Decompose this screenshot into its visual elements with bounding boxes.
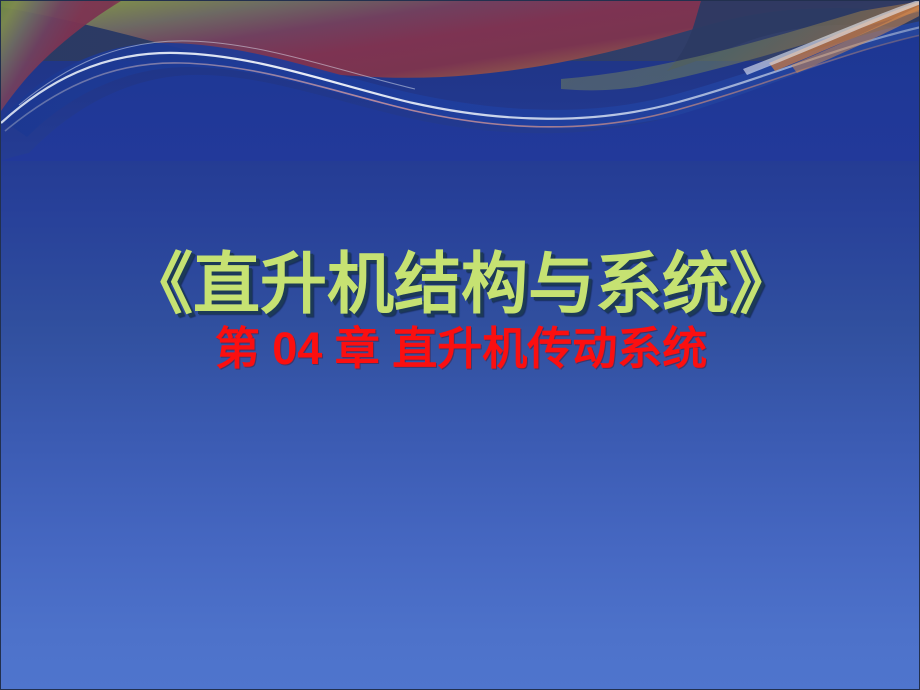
wave-backplate (1, 1, 920, 61)
wave-white-streak-right (743, 1, 920, 75)
wave-maroon-olive-sweep (1, 1, 920, 78)
wave-highlight-line-1 (1, 27, 920, 123)
wave-main-body (1, 35, 920, 161)
presentation-slide: 《直升机结构与系统》 第 04 章 直升机传动系统 (0, 0, 920, 690)
wave-navy-lobe (667, 1, 920, 71)
wave-olive-streak (561, 1, 920, 90)
wave-orange-streak-1 (769, 1, 920, 71)
wave-orange-streak-2 (791, 5, 920, 73)
wave-blue-ribbon (1, 21, 920, 137)
page-subtitle: 第 04 章 直升机传动系统 (1, 326, 920, 371)
wave-highlight-line-2 (5, 35, 920, 131)
wave-highlight-line-3 (19, 41, 415, 105)
page-title: 《直升机结构与系统》 (1, 251, 920, 318)
title-block: 《直升机结构与系统》 第 04 章 直升机传动系统 (1, 251, 920, 371)
wave-left-gradient-wedge (1, 1, 121, 111)
decorative-wave-banner (1, 1, 920, 161)
